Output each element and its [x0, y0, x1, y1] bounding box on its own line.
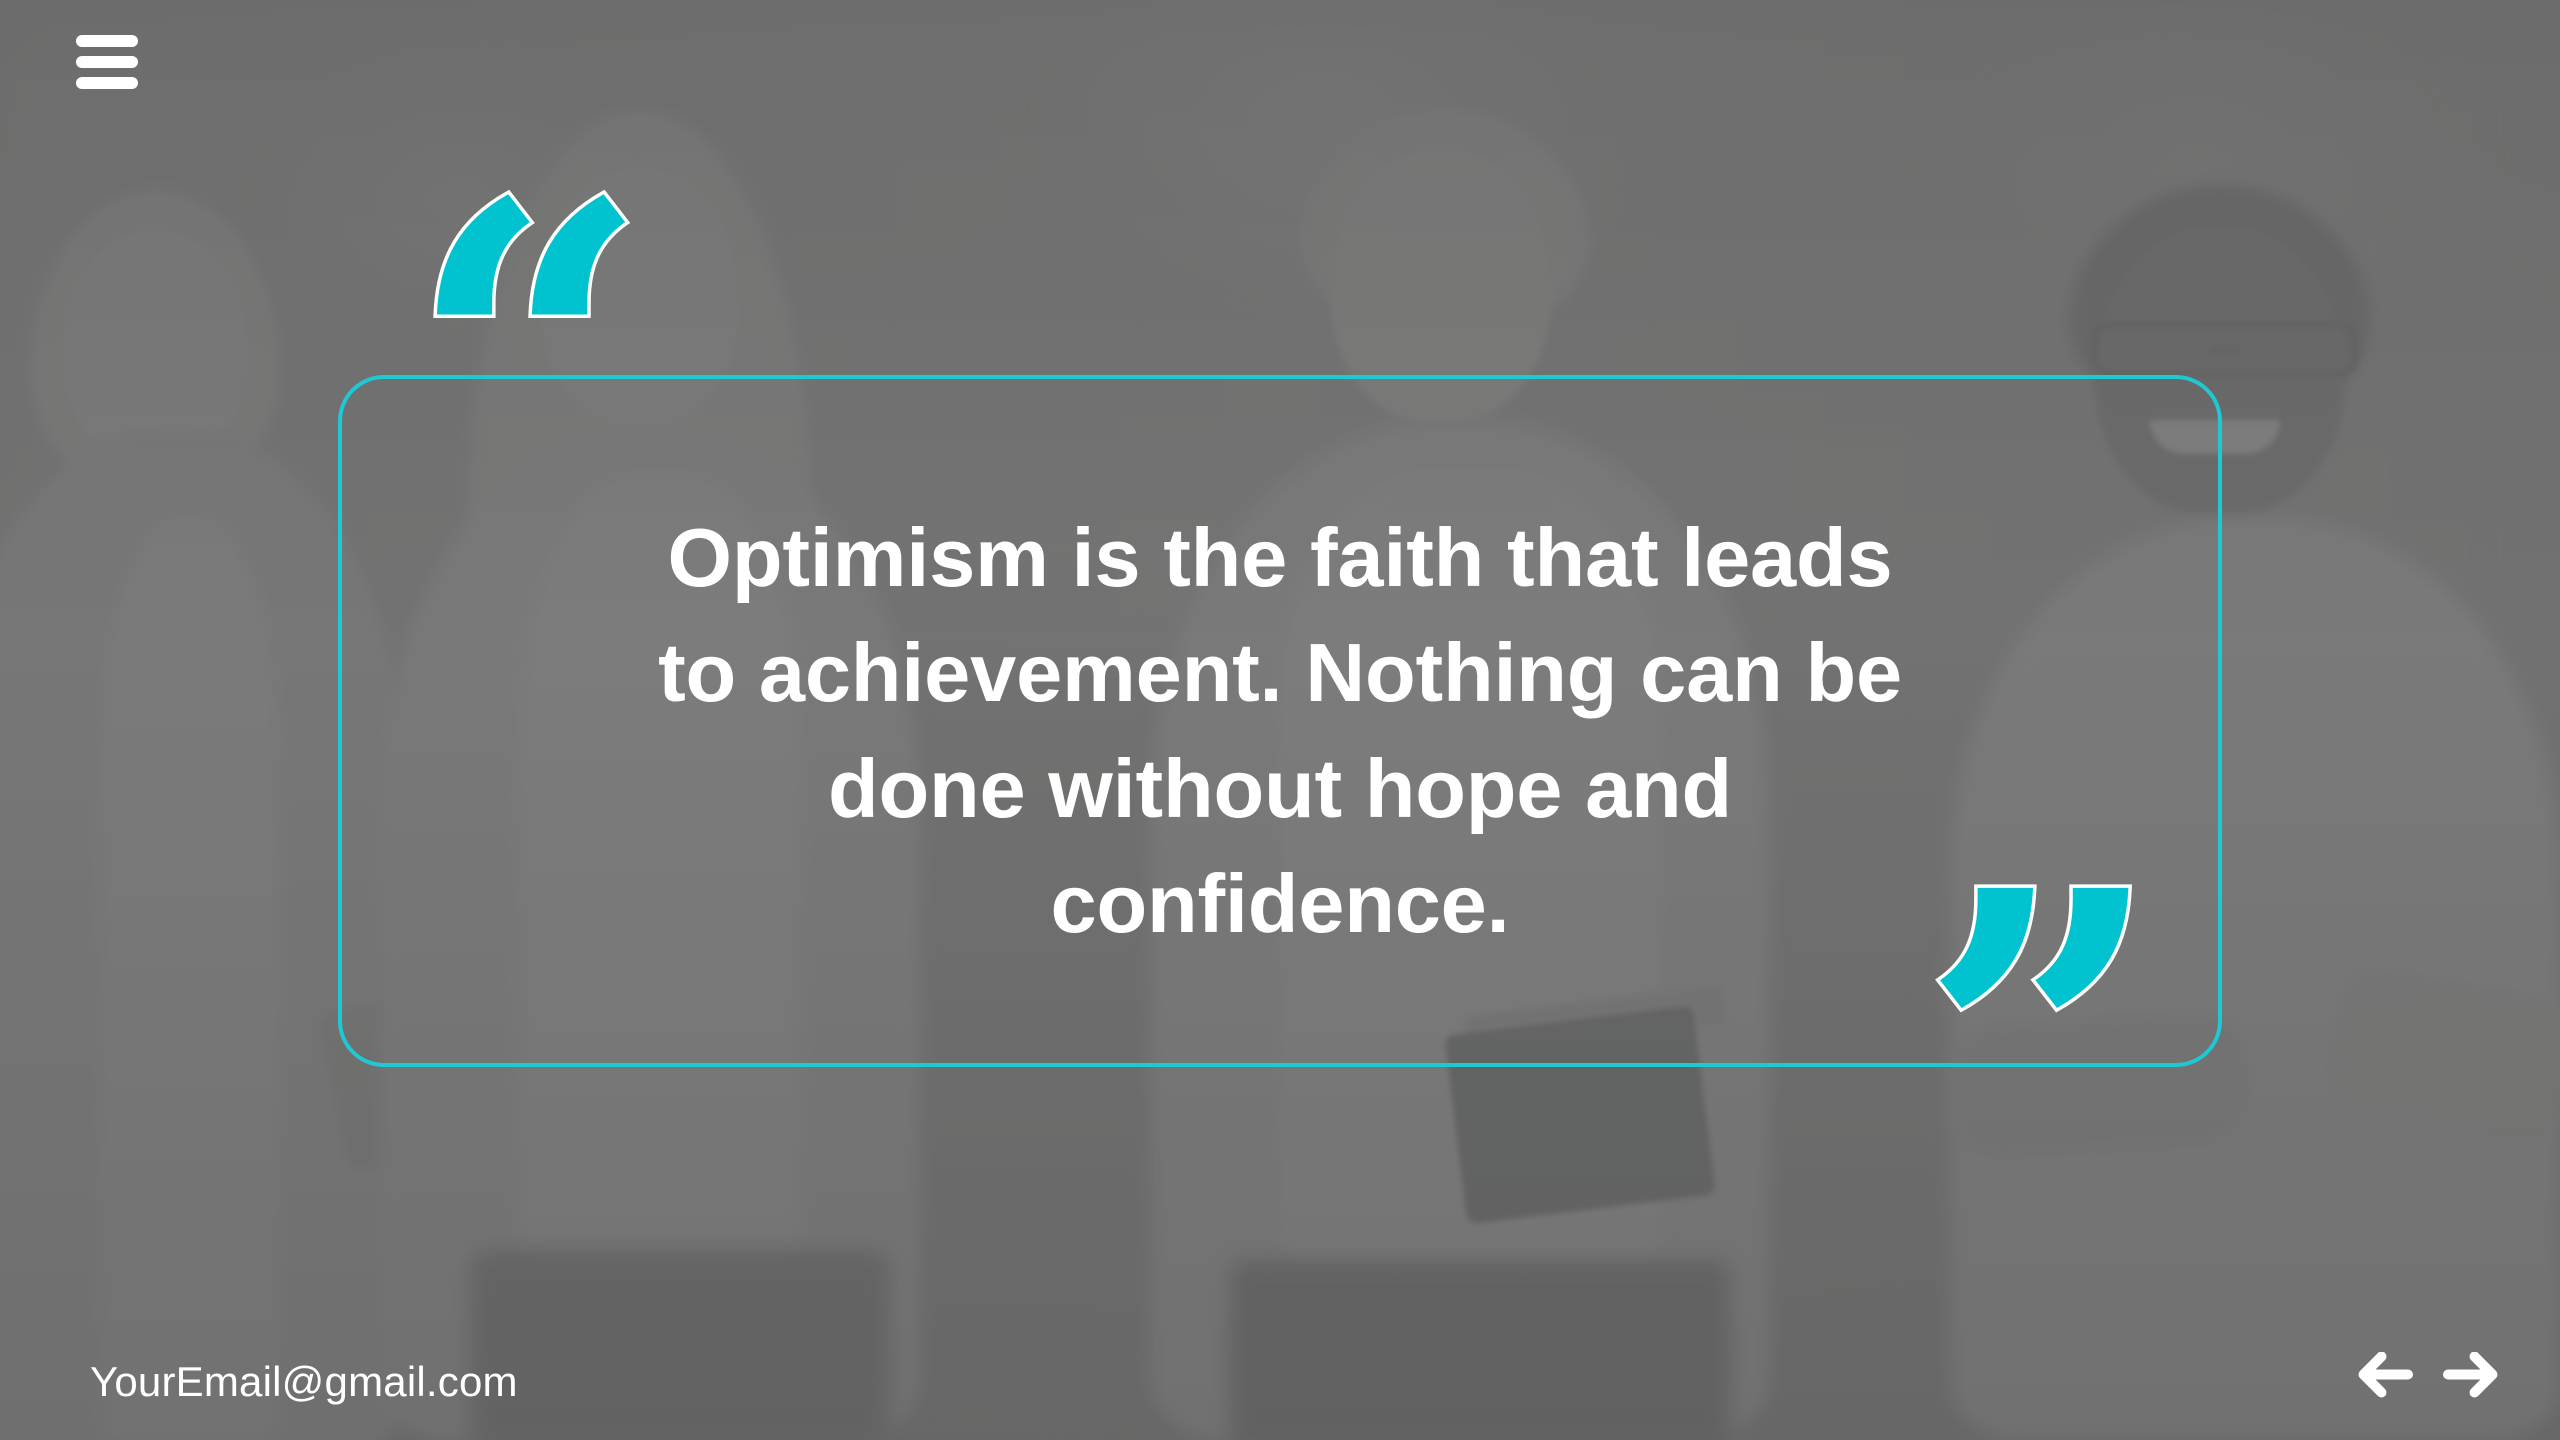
arrow-right-icon	[2442, 1352, 2498, 1398]
quote-line: Optimism is the faith that leads	[430, 500, 2130, 615]
quote-line: confidence.	[430, 846, 2130, 961]
arrow-left-icon	[2358, 1352, 2414, 1398]
next-slide-button[interactable]	[2442, 1352, 2498, 1398]
quote-slide: “ ” Optimism is the faith that leads to …	[0, 0, 2560, 1440]
previous-slide-button[interactable]	[2358, 1352, 2414, 1398]
email-address[interactable]: YourEmail@gmail.com	[90, 1358, 518, 1406]
slide-navigation	[2358, 1352, 2498, 1398]
quote-line: to achievement. Nothing can be	[430, 615, 2130, 730]
hamburger-icon-bar-2	[76, 56, 138, 68]
hamburger-icon-bar-1	[76, 35, 138, 47]
hamburger-menu-button[interactable]	[76, 35, 138, 89]
quote-text: Optimism is the faith that leads to achi…	[430, 500, 2130, 961]
quote-line: done without hope and	[430, 731, 2130, 846]
hamburger-icon-bar-3	[76, 77, 138, 89]
